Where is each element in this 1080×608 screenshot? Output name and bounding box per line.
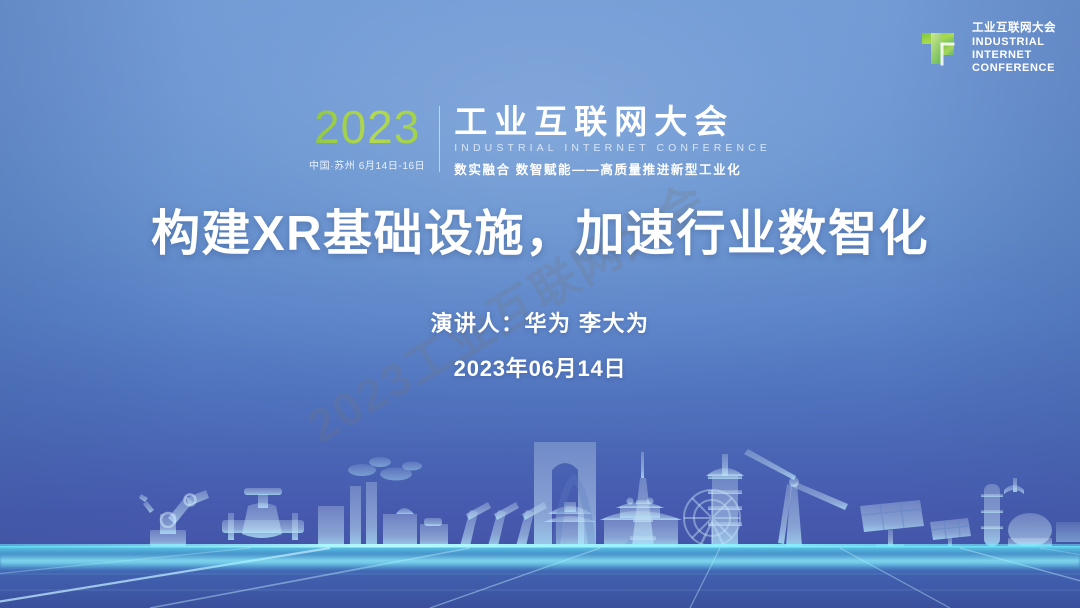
robot-arm-icon: [139, 490, 209, 546]
lockup-slogan: 数实融合 数智赋能——高质量推进新型工业化: [454, 159, 771, 178]
speaker-line: 演讲人：华为 李大为: [0, 306, 1080, 338]
presentation-slide: 2023工业互联网大会 工业互联网大会 INDUST: [0, 0, 1080, 608]
industrial-internet-t-mark-icon: [919, 26, 963, 70]
lockup-title-block: 工业互联网大会 INDUSTRIAL INTERNET CONFERENCE 数…: [454, 104, 771, 178]
lockup-place-date: 中国·苏州 6月14日-16日: [309, 157, 425, 172]
corner-logo-name-cn: 工业互联网大会: [972, 22, 1056, 36]
corner-logo: 工业互联网大会 INDUSTRIAL INTERNET CONFERENCE: [919, 22, 1056, 74]
lockup-title-en: INDUSTRIAL INTERNET CONFERENCE: [454, 142, 771, 154]
smokestack-icon: [348, 457, 422, 481]
date-line: 2023年06月14日: [0, 351, 1080, 383]
ground-plane: [0, 546, 1080, 608]
solar-panel-icon: [860, 500, 971, 547]
corner-logo-name-en-3: CONFERENCE: [972, 62, 1056, 75]
title-block: 构建XR基础设施，加速行业数智化 演讲人：华为 李大为 2023年06月14日: [0, 206, 1080, 383]
oil-pumpjack-icon: [460, 502, 547, 546]
page-title: 构建XR基础设施，加速行业数智化: [0, 206, 1080, 264]
corner-logo-text: 工业互联网大会 INDUSTRIAL INTERNET CONFERENCE: [972, 22, 1056, 74]
storage-tank-icon: [981, 478, 1052, 547]
corner-logo-name-en-1: INDUSTRIAL: [972, 36, 1056, 49]
factory-icon: [318, 482, 448, 546]
corner-logo-name-en-2: INTERNET: [972, 49, 1056, 62]
ferris-wheel-icon: [684, 490, 740, 546]
pipe-valve-icon: [222, 488, 304, 540]
industrial-skyline-scene: [0, 418, 1080, 608]
conference-lockup: 2023 中国·苏州 6月14日-16日 工业互联网大会 INDUSTRIAL …: [0, 104, 1080, 178]
lockup-title-cn: 工业互联网大会: [454, 105, 771, 140]
horizon-line: [0, 544, 1080, 548]
lockup-divider: [439, 106, 440, 172]
lockup-year-block: 2023 中国·苏州 6月14日-16日: [309, 104, 425, 172]
lockup-year: 2023: [309, 106, 425, 150]
wind-turbine-icon: [744, 449, 848, 546]
truck-icon: [1056, 522, 1080, 542]
